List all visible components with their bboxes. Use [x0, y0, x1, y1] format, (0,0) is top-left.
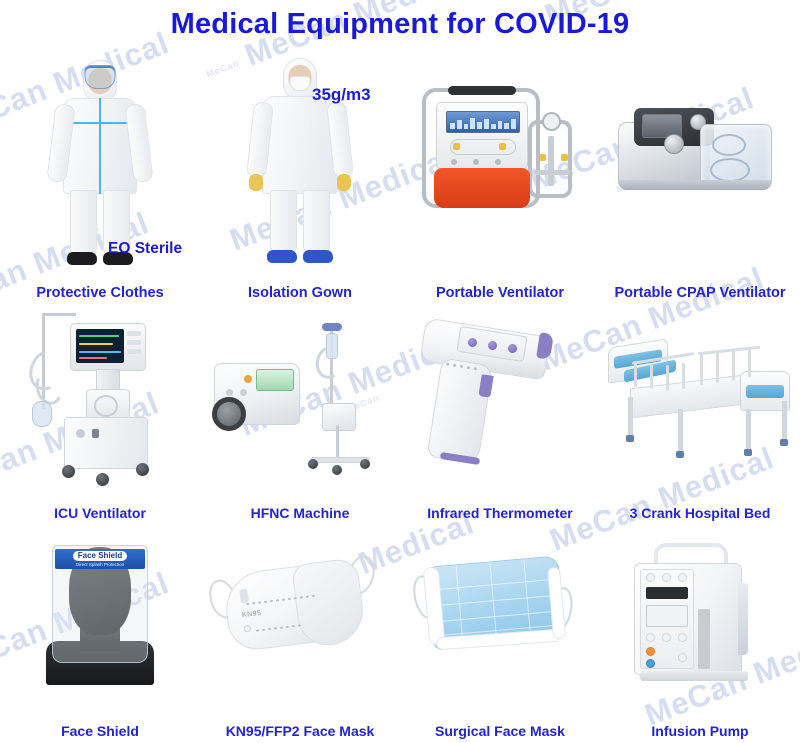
- product-cell-icu-ventilator[interactable]: ICU Ventilator: [0, 305, 200, 525]
- face-shield-band-title: Face Shield: [73, 551, 127, 561]
- annotation-35g-m3: 35g/m3: [312, 85, 371, 105]
- product-cell-hfnc-machine[interactable]: HFNC Machine: [200, 305, 400, 525]
- product-cell-protective-clothes[interactable]: EO Sterile Protective Clothes: [0, 50, 200, 305]
- product-caption: Infrared Thermometer: [400, 504, 600, 521]
- product-image-icu-ventilator: [0, 305, 200, 504]
- product-cell-face-shield[interactable]: Face Shield Direct Splash Protection Fac…: [0, 525, 200, 743]
- product-cell-hospital-bed[interactable]: 3 Crank Hospital Bed: [600, 305, 800, 525]
- product-image-infrared-thermometer: [400, 305, 600, 504]
- product-caption: Portable Ventilator: [400, 284, 600, 301]
- annotation-eo-sterile: EO Sterile: [108, 240, 182, 258]
- product-image-portable-ventilator: [400, 50, 600, 284]
- product-caption: Infusion Pump: [600, 722, 800, 739]
- product-caption: Surgical Face Mask: [400, 722, 600, 739]
- product-caption: Portable CPAP Ventilator: [600, 284, 800, 301]
- product-cell-portable-cpap-ventilator[interactable]: Portable CPAP Ventilator: [600, 50, 800, 305]
- product-image-protective-clothes: EO Sterile: [0, 50, 200, 284]
- product-caption: HFNC Machine: [200, 504, 400, 521]
- face-shield-headband: Face Shield Direct Splash Protection: [55, 549, 145, 569]
- product-image-cpap-ventilator: [600, 50, 800, 284]
- product-image-hfnc-machine: [200, 305, 400, 504]
- product-caption: Isolation Gown: [200, 284, 400, 301]
- page-title: Medical Equipment for COVID-19: [0, 8, 800, 41]
- product-image-infusion-pump: [600, 525, 800, 722]
- product-caption: KN95/FFP2 Face Mask: [200, 722, 400, 739]
- product-image-hospital-bed: [600, 305, 800, 504]
- product-cell-isolation-gown[interactable]: 35g/m3 Isolation Gown: [200, 50, 400, 305]
- product-cell-portable-ventilator[interactable]: Portable Ventilator: [400, 50, 600, 305]
- product-image-isolation-gown: 35g/m3: [200, 50, 400, 284]
- product-image-face-shield: Face Shield Direct Splash Protection: [0, 525, 200, 722]
- product-grid: EO Sterile Protective Clothes: [0, 50, 800, 743]
- product-cell-infusion-pump[interactable]: Infusion Pump: [600, 525, 800, 743]
- product-caption: Protective Clothes: [0, 284, 200, 301]
- product-caption: ICU Ventilator: [0, 504, 200, 521]
- product-cell-kn95-mask[interactable]: KN95 KN95/FFP2 Face Mask: [200, 525, 400, 743]
- product-cell-surgical-mask[interactable]: Surgical Face Mask: [400, 525, 600, 743]
- face-shield-band-sub: Direct Splash Protection: [76, 562, 124, 567]
- product-image-surgical-mask: [400, 525, 600, 722]
- product-collage: MeCan Medical MeCan Medical MeCan Medica…: [0, 0, 800, 743]
- product-image-kn95-mask: KN95: [200, 525, 400, 722]
- product-caption: 3 Crank Hospital Bed: [600, 504, 800, 521]
- product-caption: Face Shield: [0, 722, 200, 739]
- product-cell-infrared-thermometer[interactable]: Infrared Thermometer: [400, 305, 600, 525]
